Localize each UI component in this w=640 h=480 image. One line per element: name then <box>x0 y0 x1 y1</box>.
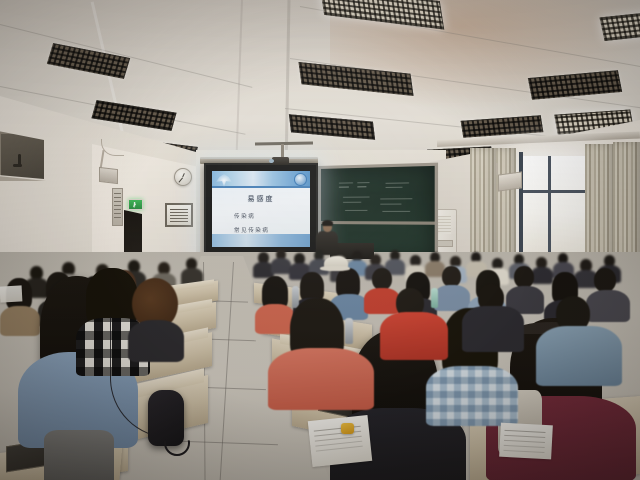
worksheet-papers[interactable] <box>0 285 22 302</box>
ceiling-light <box>289 114 375 140</box>
classroom-photo: 易感度 传染病 常见传染病 <box>0 0 640 480</box>
student-torso <box>380 312 448 360</box>
water-bottle <box>431 288 438 308</box>
student-torso <box>462 306 524 352</box>
wall-clock <box>174 168 192 186</box>
projected-slide: 易感度 传染病 常见传染病 <box>212 171 310 247</box>
speaker-bracket-right <box>496 163 498 175</box>
cap-brim <box>320 266 350 271</box>
ceiling-seam <box>0 24 252 88</box>
framed-notice <box>165 203 193 227</box>
slide-logo <box>294 173 307 186</box>
wall-speaker <box>99 167 118 184</box>
wall-speaker-right <box>498 171 522 191</box>
ceiling-joint <box>235 0 243 172</box>
window-mullion-horizontal <box>523 190 585 193</box>
clock-minute-hand <box>178 177 183 182</box>
emergency-exit-sign <box>128 199 143 210</box>
worksheet-papers[interactable] <box>308 415 372 467</box>
yellow-object[interactable] <box>341 423 354 434</box>
ceiling-projector <box>272 157 289 165</box>
student-lap <box>44 430 114 480</box>
projection-screen: 易感度 传染病 常见传染病 <box>204 163 318 263</box>
slide-bottom-band <box>212 234 310 247</box>
thermos-bottle <box>345 318 353 344</box>
chalkboard-divider <box>321 221 435 225</box>
running-man-icon <box>133 202 136 208</box>
notice-panel <box>112 188 123 226</box>
ceiling-light <box>47 43 130 79</box>
student-torso <box>426 366 518 426</box>
window-handle <box>18 154 21 167</box>
slide-line-2: 常见传染病 <box>234 226 270 234</box>
instructor-hair <box>322 220 333 226</box>
ceiling-joint <box>284 0 290 172</box>
slide-line-1: 传染病 <box>234 212 255 220</box>
student-torso <box>536 326 622 386</box>
student-torso <box>268 348 374 410</box>
slide-title: 易感度 <box>212 194 310 204</box>
worksheet-papers[interactable] <box>499 423 553 460</box>
backpack[interactable] <box>148 390 184 446</box>
